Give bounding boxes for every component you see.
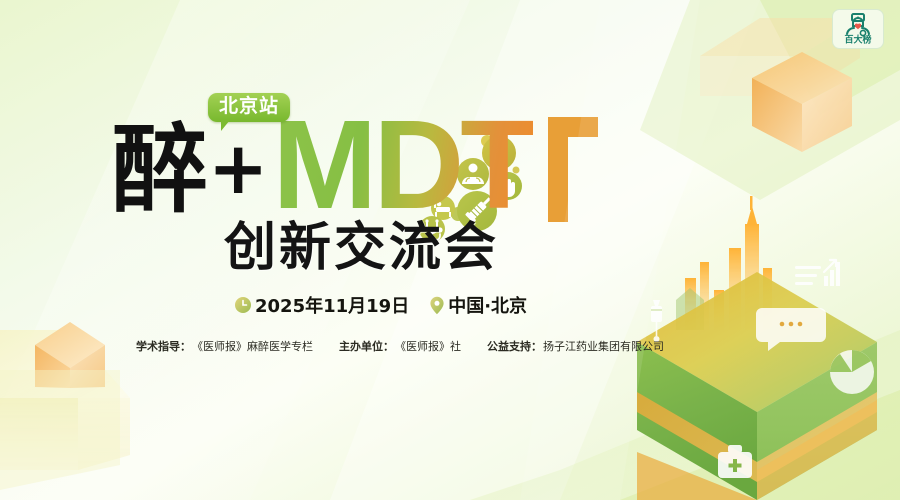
credit-organizer-key: 主办单位： (339, 338, 394, 354)
credit-academic: 学术指导： 《医师报》麻醉医学专栏 (136, 338, 313, 354)
main-title-lockup: 醉 + MDT (112, 104, 533, 216)
event-location-label: 中国·北京 (448, 292, 527, 318)
event-date-label: 2025年11月19日 (255, 292, 409, 318)
credit-academic-key: 学术指导： (136, 338, 191, 354)
title-plus: + (208, 132, 268, 204)
title-zui: 醉 (112, 124, 206, 216)
credit-sponsor-value: 扬子江药业集团有限公司 (543, 338, 664, 354)
credit-sponsor: 公益支持： 扬子江药业集团有限公司 (487, 338, 664, 354)
subtitle: 创新交流会 (224, 222, 499, 274)
credit-academic-value: 《医师报》麻醉医学专栏 (192, 338, 313, 354)
logo-text: 百大榜 (844, 34, 871, 46)
clock-icon (234, 296, 252, 314)
event-location: 中国·北京 (429, 292, 527, 318)
credit-organizer-value: 《医师报》社 (395, 338, 461, 354)
doctor-badge-logo-icon: 百大榜 (832, 9, 884, 49)
credits-row: 学术指导： 《医师报》麻醉医学专栏 主办单位： 《医师报》社 公益支持： 扬子江… (136, 338, 664, 354)
credit-organizer: 主办单位： 《医师报》社 (339, 338, 461, 354)
event-banner: 北京站 醉 + MDT 创新交流会 2025年11月19日 (0, 0, 900, 500)
credit-sponsor-key: 公益支持： (487, 338, 542, 354)
event-date: 2025年11月19日 (234, 292, 409, 318)
meta-row: 2025年11月19日 中国·北京 (234, 292, 527, 318)
title-mdt: MDT (272, 113, 533, 216)
location-pin-icon (429, 296, 445, 315)
city-badge: 北京站 (208, 93, 290, 122)
doctor-badge-logo: 百大榜 (832, 9, 884, 49)
